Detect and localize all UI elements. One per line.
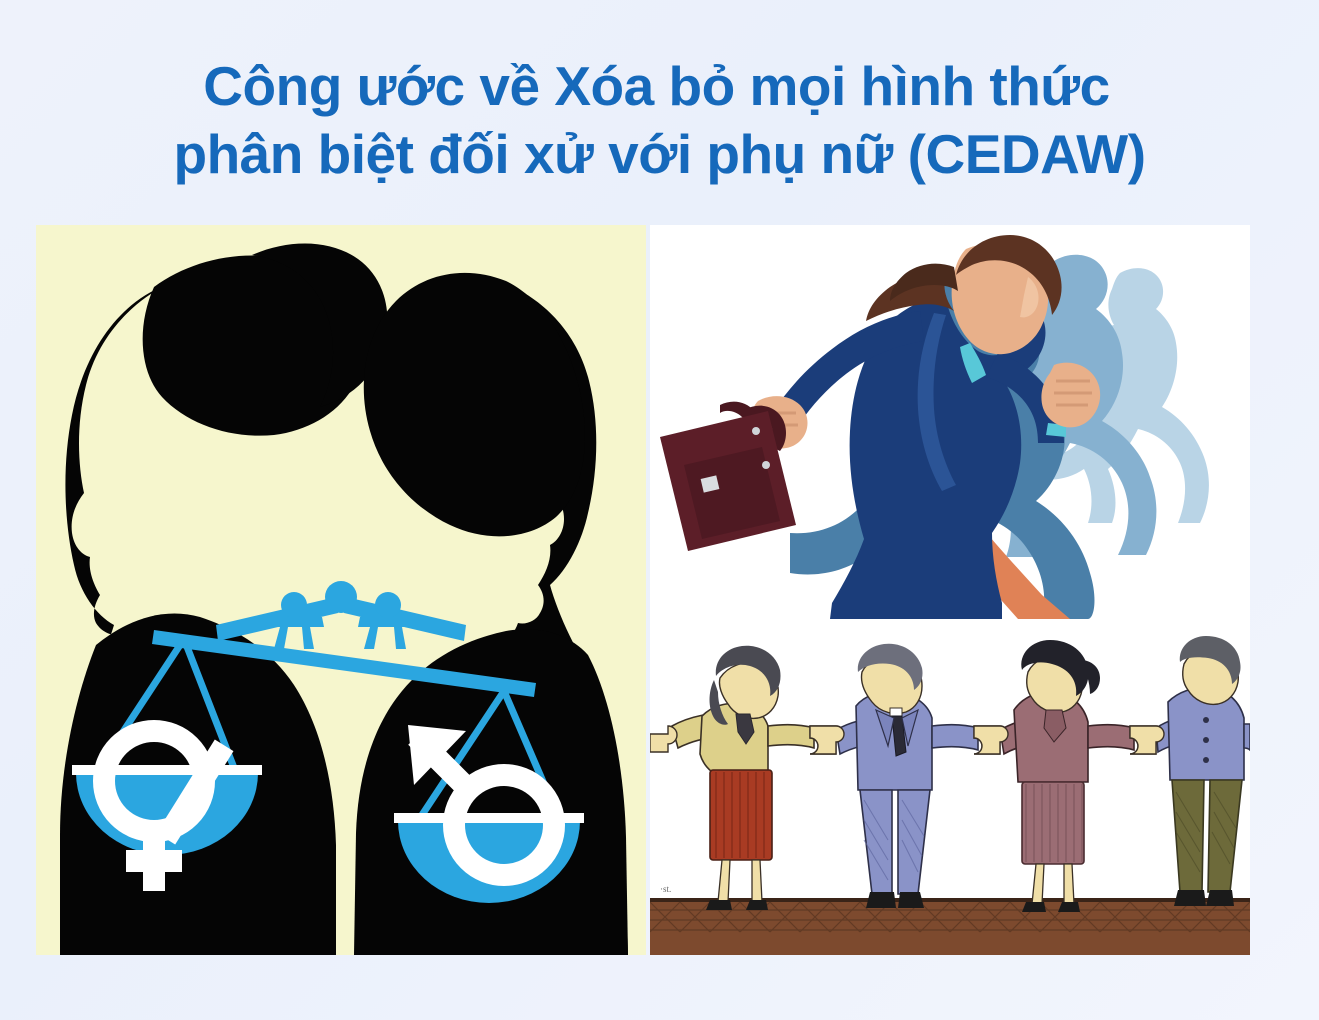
businesswoman-running-illustration (650, 225, 1250, 620)
slide-canvas: Công ước về Xóa bỏ mọi hình thức phân bi… (0, 0, 1319, 1020)
skirt (710, 770, 772, 860)
floor (650, 898, 1250, 955)
title-line-1: Công ước về Xóa bỏ mọi hình thức (0, 58, 1319, 114)
page-title: Công ước về Xóa bỏ mọi hình thức phân bi… (0, 58, 1319, 182)
floor-edge (650, 898, 1250, 902)
left-image-panel (36, 225, 646, 955)
skirt (1022, 782, 1084, 864)
artist-signature: ·st. (660, 884, 671, 894)
gender-equality-scales-illustration (36, 225, 646, 955)
right-bottom-image-panel: ·st. (650, 620, 1250, 955)
title-line-2: phân biệt đối xử với phụ nữ (CEDAW) (0, 126, 1319, 182)
right-top-image-panel (650, 225, 1250, 620)
scale-pivot (325, 581, 357, 613)
people-holding-puzzle-hands-illustration: ·st. (650, 620, 1250, 955)
